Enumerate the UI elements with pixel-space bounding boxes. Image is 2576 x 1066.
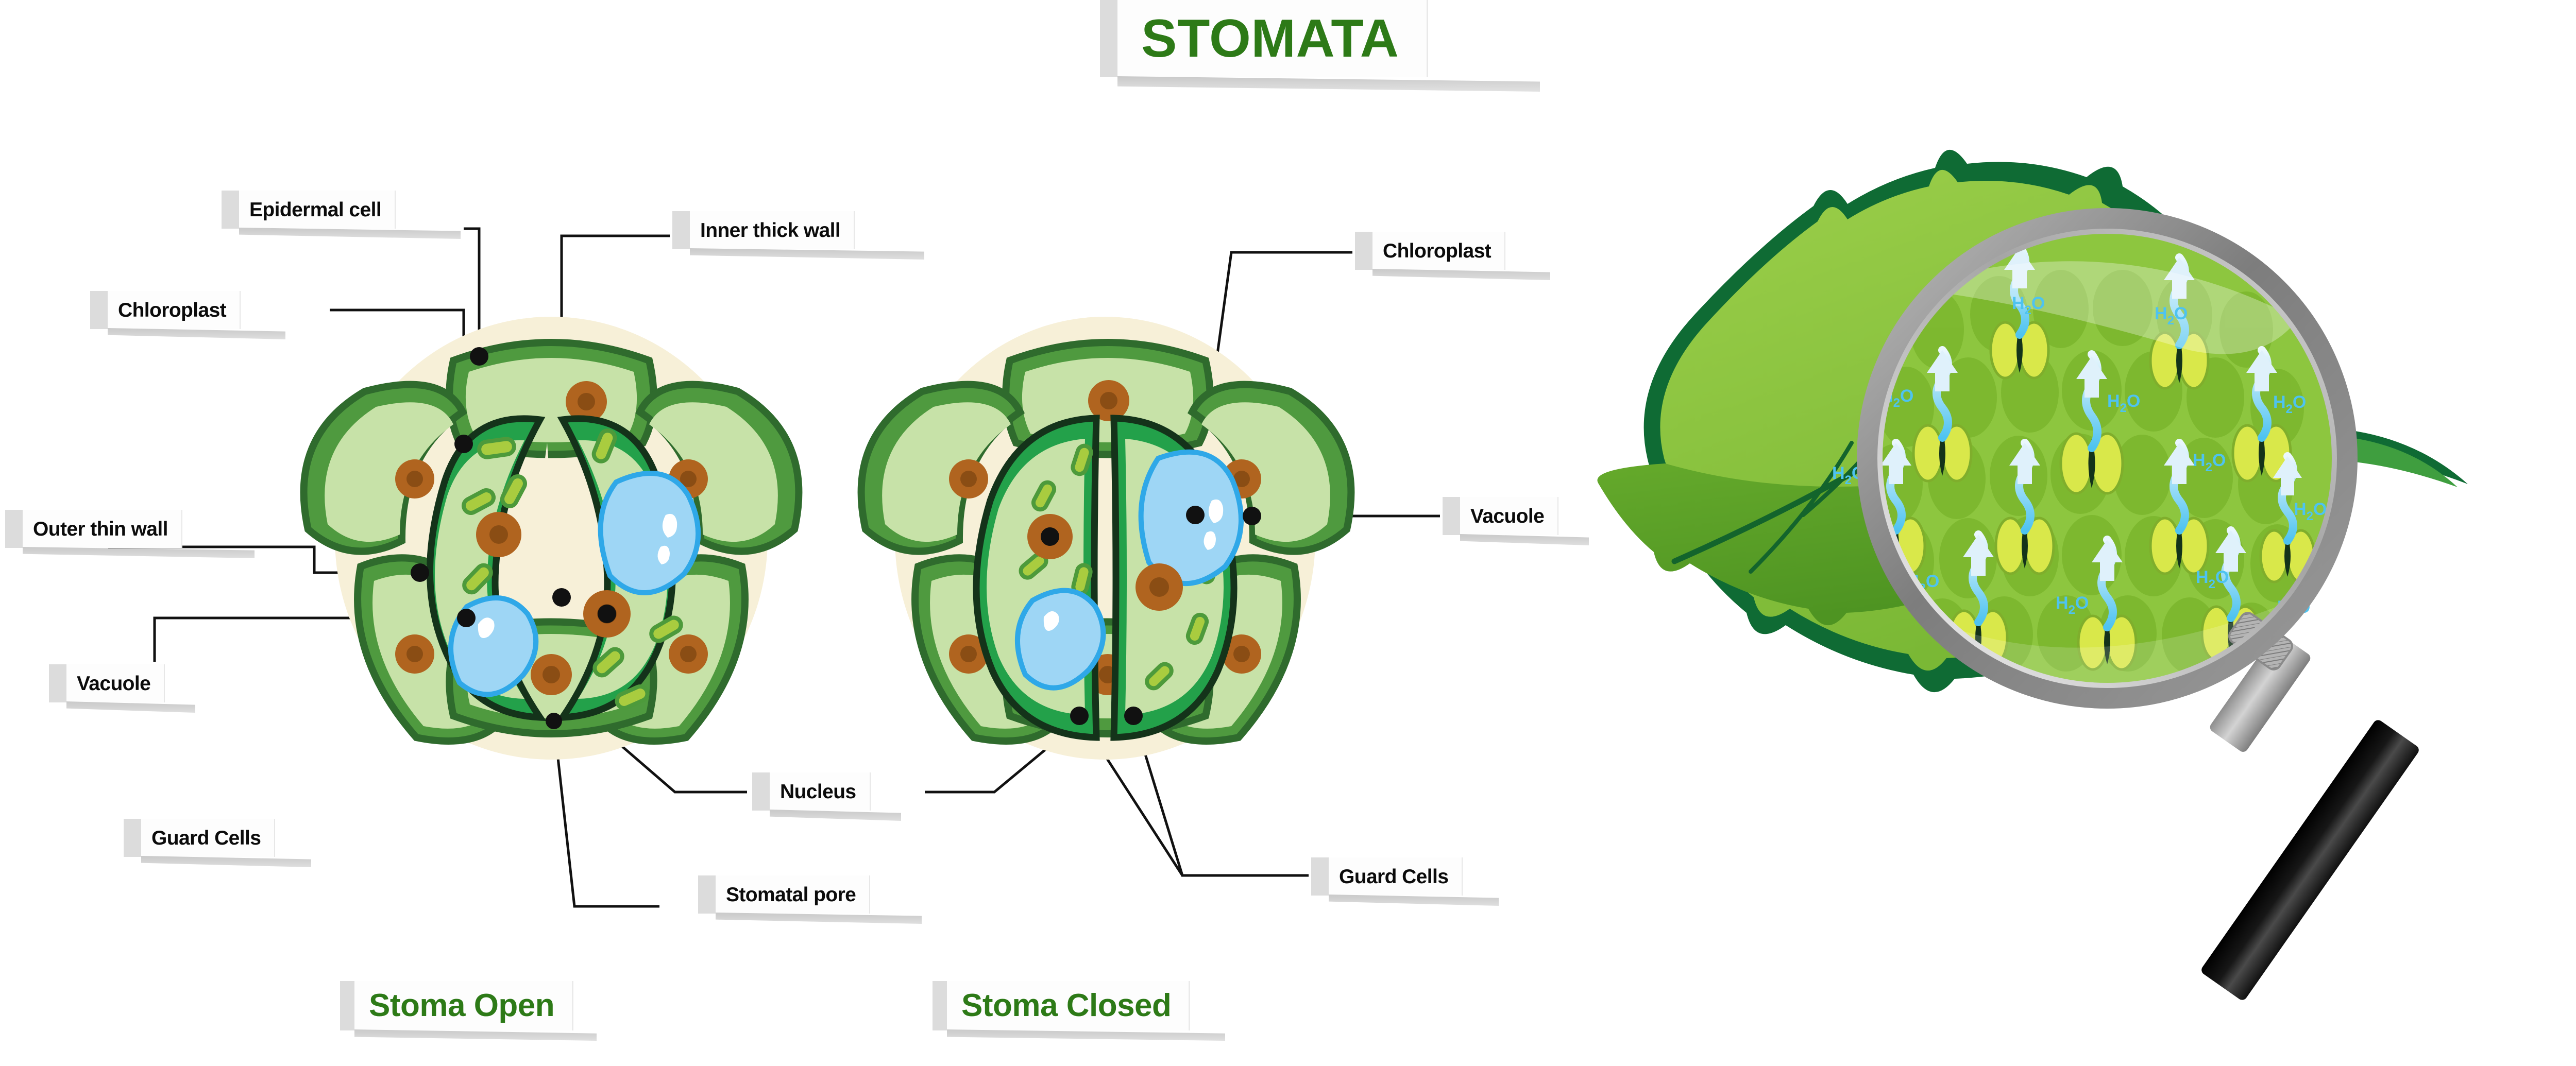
label-text: Chloroplast [118,300,226,320]
label-inner-thick-wall: Inner thick wall [672,211,855,249]
label-stomatal-pore: Stomatal pore [698,875,870,914]
label-accent-bar [49,664,66,702]
label-accent-bar [90,291,108,329]
title-text: STOMATA [1141,12,1399,65]
label-guard-cells-right: Guard Cells [1311,857,1463,896]
label-nucleus: Nucleus [752,772,871,811]
caption-stoma-open: Stoma Open [340,981,573,1030]
label-text: Outer thin wall [33,519,168,539]
stoma-open-diagram [304,317,799,760]
label-text: Vacuole [77,674,150,694]
label-accent-bar [1355,232,1372,270]
caption-text: Stoma Open [369,990,554,1022]
label-vacuole-left: Vacuole [49,664,165,702]
label-chloroplast-left: Chloroplast [90,291,241,329]
label-accent-bar [222,191,239,229]
label-text: Guard Cells [151,828,261,848]
stoma-closed-diagram [861,317,1351,760]
label-accent-bar [698,875,716,914]
caption-stoma-closed: Stoma Closed [933,981,1190,1030]
page-title: STOMATA [1100,0,1428,77]
label-accent-bar [1443,497,1460,535]
label-accent-bar [5,510,23,548]
label-text: Inner thick wall [700,220,840,240]
label-text: Vacuole [1470,506,1544,526]
label-text: Stomatal pore [726,885,856,905]
title-accent-bar [1100,0,1117,77]
label-text: Chloroplast [1383,241,1491,261]
label-accent-bar [124,819,141,857]
diagram-canvas: H2O H2O H2O H2O H2O H2O H2O H2O H2O H2O … [0,0,2576,1066]
caption-text: Stoma Closed [961,990,1171,1022]
illustration-layer: H2O H2O H2O H2O H2O H2O H2O H2O H2O H2O … [0,0,2576,1066]
label-text: Guard Cells [1339,867,1448,887]
caption-accent-bar [340,981,354,1030]
label-accent-bar [672,211,690,249]
caption-accent-bar [933,981,947,1030]
label-text: Nucleus [780,782,856,802]
label-epidermal-cell: Epidermal cell [222,191,396,229]
label-chloroplast-right: Chloroplast [1355,232,1505,270]
label-accent-bar [752,772,770,811]
label-guard-cells-left: Guard Cells [124,819,275,857]
label-text: Epidermal cell [249,200,381,220]
label-vacuole-right: Vacuole [1443,497,1558,535]
label-outer-thin-wall: Outer thin wall [5,510,182,548]
leaf-with-magnifier: H2O H2O H2O H2O H2O H2O H2O H2O H2O H2O … [1597,150,2468,1002]
label-accent-bar [1311,857,1329,896]
